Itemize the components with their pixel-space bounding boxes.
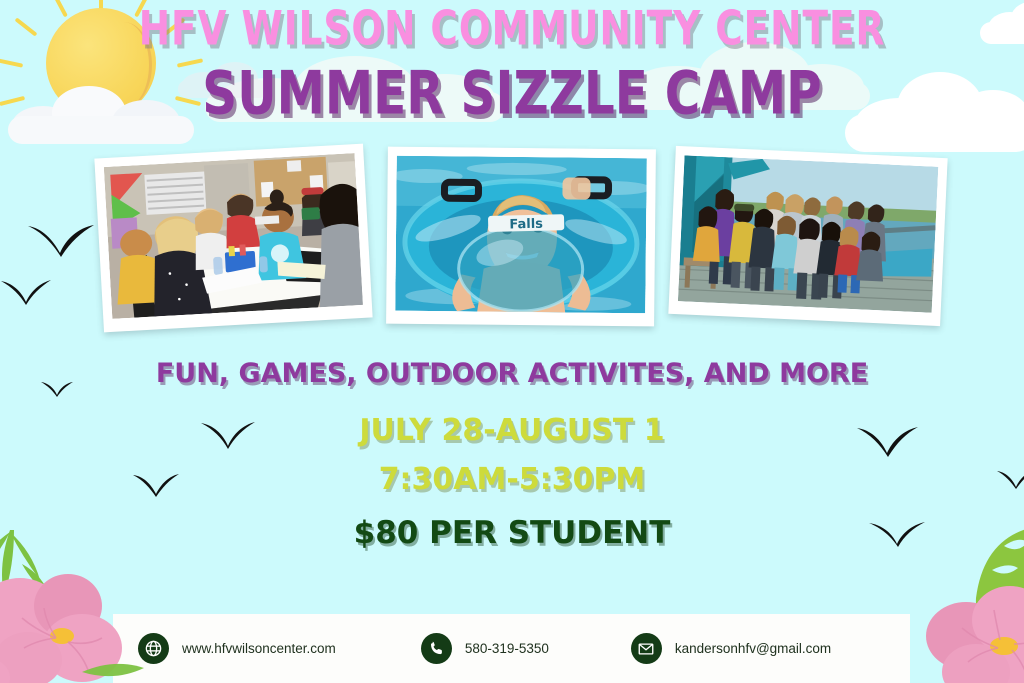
email-label: kandersonhfv@gmail.com	[675, 641, 831, 656]
seagull-icon	[0, 278, 52, 306]
photo-group-dock	[668, 146, 947, 326]
activities-line-wrap: FUN, GAMES, OUTDOOR ACTIVITES, AND MORE	[0, 358, 1024, 389]
page-title-line2: SUMMER SIZZLE CAMP	[15, 63, 1008, 124]
times-line: 7:30AM-5:30PM	[379, 462, 646, 497]
hibiscus-flower-icon	[900, 524, 1024, 683]
photo-pool-float-image: Falls	[395, 156, 647, 314]
dates-line: JULY 28-AUGUST 1	[359, 413, 664, 448]
times-line-wrap: 7:30AM-5:30PM	[0, 462, 1024, 497]
price-line: $80 PER STUDENT	[354, 515, 671, 551]
seagull-icon	[26, 222, 96, 258]
contact-email[interactable]: kandersonhfv@gmail.com	[631, 633, 831, 664]
photo-pool-float: Falls	[386, 147, 656, 327]
activities-line: FUN, GAMES, OUTDOOR ACTIVITES, AND MORE	[156, 358, 868, 389]
phone-icon	[421, 633, 452, 664]
contact-phone[interactable]: 580-319-5350	[421, 633, 549, 664]
contact-footer-bar: www.hfvwilsoncenter.com 580-319-5350 kan…	[113, 614, 910, 683]
phone-label: 580-319-5350	[465, 641, 549, 656]
summer-camp-flyer: HFV WILSON COMMUNITY CENTER SUMMER SIZZL…	[0, 0, 1024, 683]
page-title-line1: HFV WILSON COMMUNITY CENTER	[20, 6, 1003, 55]
envelope-icon	[631, 633, 662, 664]
photo-classroom-craft	[94, 144, 372, 333]
website-label: www.hfvwilsoncenter.com	[182, 641, 336, 656]
photo-group-dock-image	[678, 155, 938, 312]
dates-line-wrap: JULY 28-AUGUST 1	[0, 413, 1024, 448]
hibiscus-flower-icon	[0, 520, 184, 683]
svg-text:Falls: Falls	[509, 217, 543, 233]
flyer-title-block: HFV WILSON COMMUNITY CENTER SUMMER SIZZL…	[0, 10, 1024, 119]
photo-classroom-craft-image	[104, 153, 363, 319]
